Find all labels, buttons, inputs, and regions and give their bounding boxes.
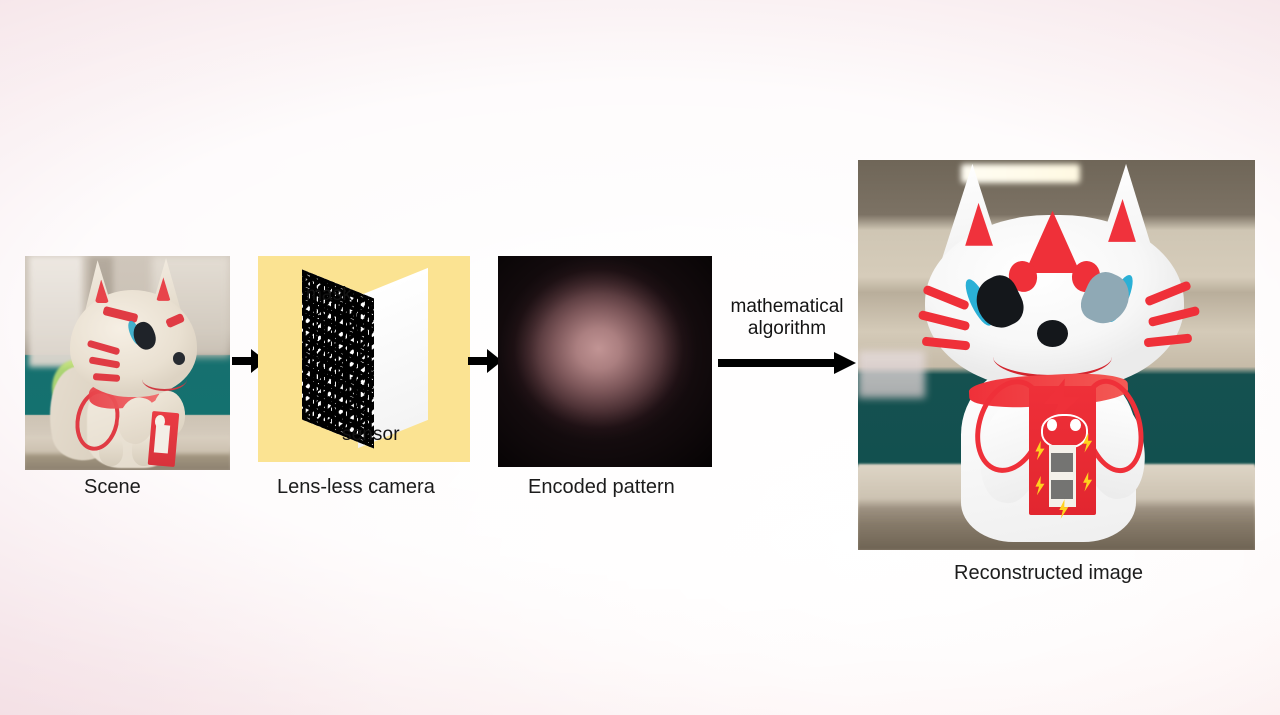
scene-charm-label: [153, 424, 170, 453]
recon-mouth: [993, 336, 1112, 378]
sensor-label: sensor: [342, 424, 400, 446]
label-encoded-pattern: Encoded pattern: [528, 476, 675, 499]
scene-nose: [173, 352, 185, 365]
reconstructed-image-photo: [858, 160, 1255, 550]
encoded-pattern-photo: [498, 256, 712, 467]
scene-mouth: [142, 367, 187, 390]
arrow-camera-to-pattern-icon: [468, 348, 502, 374]
arrow-algorithm-icon: [718, 352, 856, 374]
algorithm-line-2: algorithm: [716, 318, 858, 340]
recon-charm-face: [1041, 414, 1089, 449]
lensless-camera-diagram: mask sensor: [258, 256, 470, 462]
figure-canvas: Scene mask sensor Lens-less camera Encod…: [0, 0, 1280, 715]
mask-label: mask: [306, 284, 352, 306]
recon-blurred-object: [858, 351, 925, 398]
recon-charm-eye-left: [1047, 419, 1057, 431]
algorithm-line-1: mathematical: [716, 296, 858, 318]
recon-charm-eye-right: [1070, 419, 1080, 431]
recon-charm-text-1: [1051, 453, 1073, 473]
scene-photo: [25, 256, 230, 470]
label-lensless-camera: Lens-less camera: [277, 476, 435, 499]
label-reconstructed-image: Reconstructed image: [954, 562, 1143, 585]
recon-charm-text-2: [1051, 480, 1073, 500]
encoded-pattern-vignette: [498, 256, 712, 467]
label-scene: Scene: [84, 476, 141, 499]
algorithm-annotation: mathematical algorithm: [716, 296, 858, 339]
recon-ceiling-light: [961, 164, 1080, 184]
